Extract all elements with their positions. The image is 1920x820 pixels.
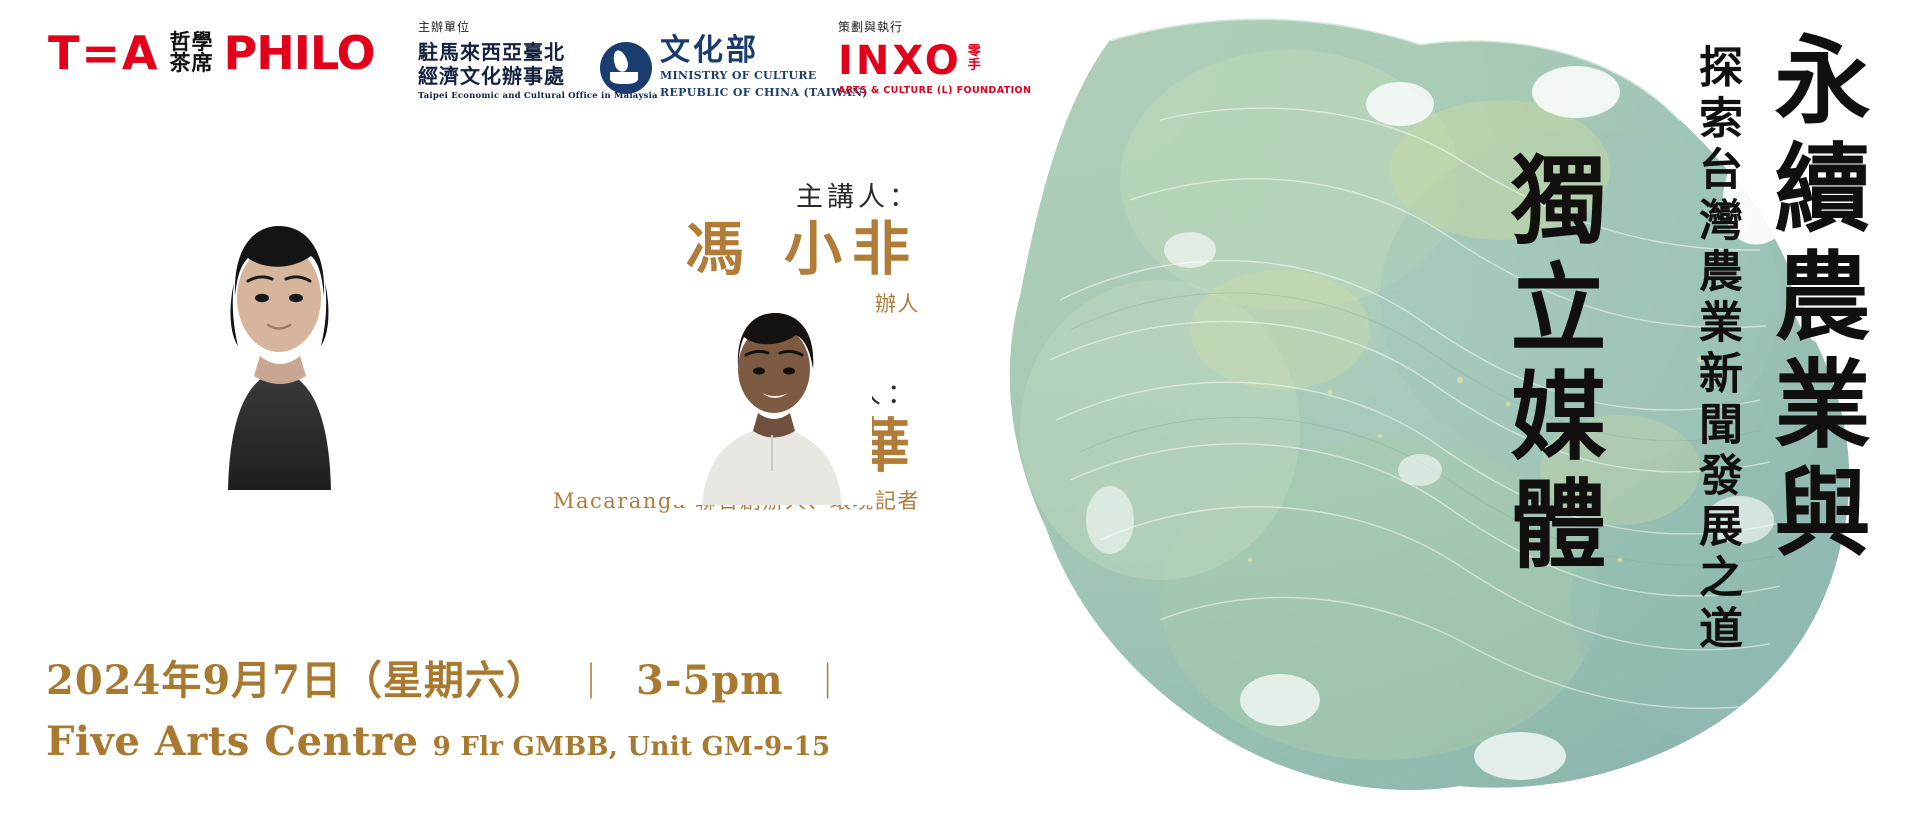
ministry-of-culture-text: 文化部 MINISTRY OF CULTURE REPUBLIC OF CHIN… [660,36,868,100]
event-separator-1: ｜ [573,653,610,705]
title-main-right: 永續農業與 [1745,30,1884,570]
philo-wordmark: PHILO [224,30,375,76]
organizer-kicker: 主辦單位 [418,18,658,35]
moc-name-cn: 文化部 [660,36,868,66]
tea-wordmark: T=A [48,30,160,76]
title-subtitle: 探索台灣農業新聞發展之道 [1684,44,1748,656]
event-venue: Five Arts Centre [46,718,419,765]
tea-philo-logo: T=A 哲學 茶席 PHILO [48,30,375,76]
ministry-of-culture-emblem-icon [600,42,652,94]
speaker-role-label: 主講人： [360,175,920,214]
organizer-ministry-of-culture: 文化部 MINISTRY OF CULTURE REPUBLIC OF CHIN… [600,36,868,100]
moderator-portrait [672,285,872,505]
event-info: 2024年9月7日（星期六） ｜ 3-5pm ｜ Five Arts Centr… [46,648,847,765]
tea-philo-cjk-top: 哲學 [170,32,214,53]
tea-philo-cjk: 哲學 茶席 [170,32,214,74]
tea-philo-cjk-bottom: 茶席 [170,53,214,74]
moc-name-en-line1: MINISTRY OF CULTURE [660,69,868,83]
event-time: 3-5pm [636,657,784,704]
event-poster: T=A 哲學 茶席 PHILO 主辦單位 駐馬來西亞臺北 經濟文化辦事處 Tai… [0,0,1920,820]
speaker-name: 馮 小非 [360,218,920,282]
event-date: 2024年9月7日（星期六） [46,648,547,706]
event-venue-detail: 9 Flr GMBB, Unit GM-9-15 [433,732,831,762]
poster-title: 永續農業與 探索台灣農業新聞發展之道 獨立媒體 [860,0,1920,820]
moc-name-en-line2: REPUBLIC OF CHINA (TAIWAN) [660,86,868,100]
event-date-time-row: 2024年9月7日（星期六） ｜ 3-5pm ｜ [46,648,847,706]
speaker-portrait [172,170,387,490]
event-separator-2: ｜ [810,653,847,705]
title-main-left: 獨立媒體 [1481,150,1620,582]
event-venue-row: Five Arts Centre 9 Flr GMBB, Unit GM-9-1… [46,718,847,765]
